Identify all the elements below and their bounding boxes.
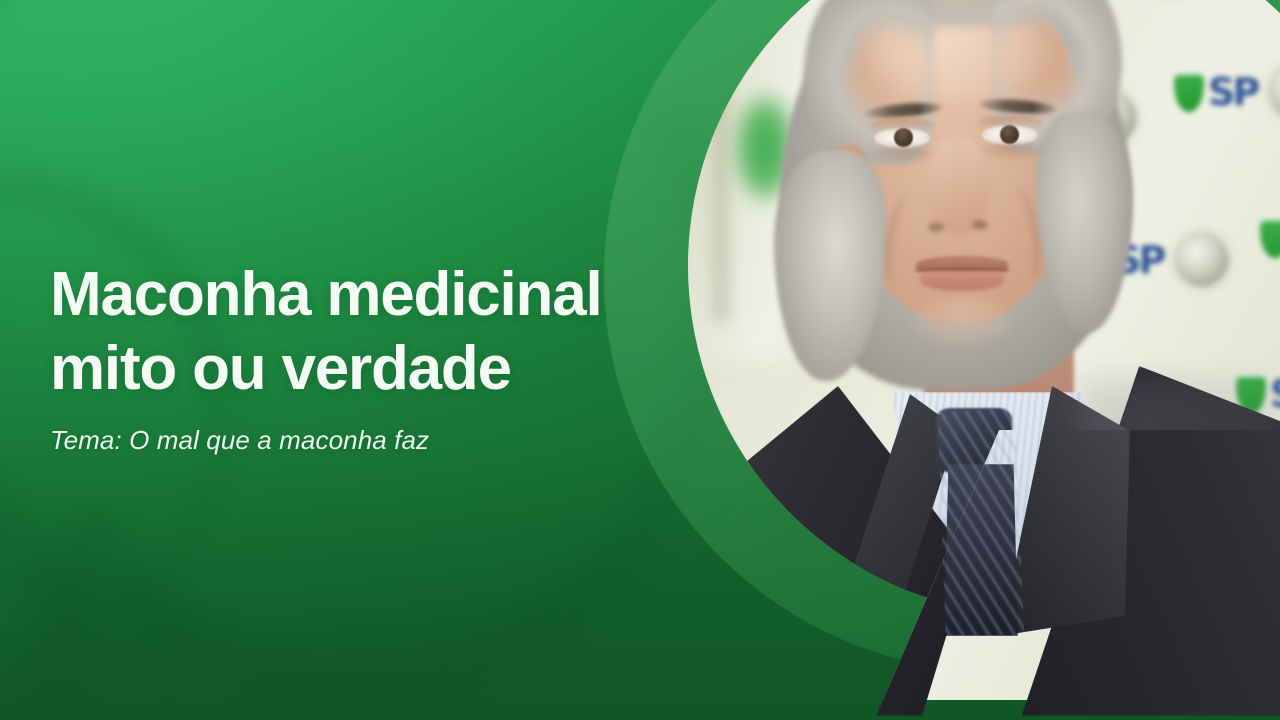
undereye-left xyxy=(870,146,936,162)
nostril-right xyxy=(972,220,988,230)
thumbnail-canvas: SP SP SP SP xyxy=(0,0,1280,720)
undereye-right xyxy=(978,143,1044,159)
lower-lip xyxy=(920,271,1004,291)
headline-block: Maconha medicinal mito ou verdade Tema: … xyxy=(50,258,710,456)
subtitle: Tema: O mal que a maconha faz xyxy=(50,424,710,456)
nostril-left xyxy=(928,222,944,232)
eyelid-left xyxy=(870,118,934,132)
eyelid-right xyxy=(978,115,1042,129)
page-title: Maconha medicinal mito ou verdade xyxy=(50,258,710,406)
chin xyxy=(912,298,1012,346)
